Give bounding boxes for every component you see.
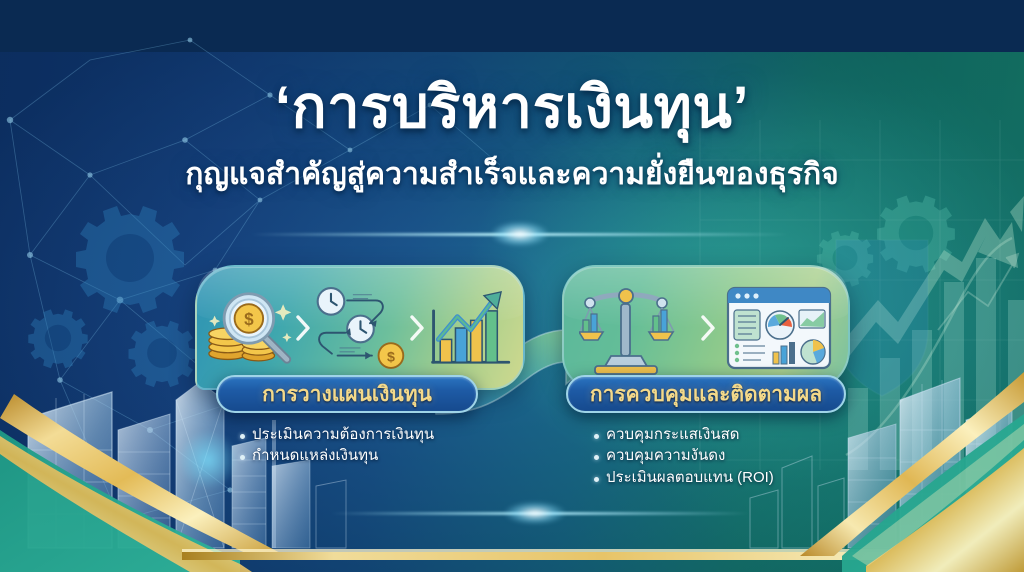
- page-title: ‘การบริหารเงินทุน’: [0, 78, 1024, 139]
- list-item: กำหนดแหล่งเงินทุน: [240, 445, 434, 466]
- list-item: ประเมินความต้องการเงินทุน: [240, 424, 434, 445]
- bullet-list-planning: ประเมินความต้องการเงินทุน กำหนดแหล่งเงิน…: [240, 424, 434, 467]
- step-label-pill-planning[interactable]: การวางแผนเงินทุน: [216, 375, 478, 413]
- step-label-planning: การวางแผนเงินทุน: [262, 378, 432, 411]
- list-item: ควบคุมความงันดง: [594, 445, 774, 466]
- step-label-control: การควบคุมและติดตามผล: [590, 378, 822, 411]
- headline-block: ‘การบริหารเงินทุน’ กุญแจสำคัญสู่ความสำเร…: [0, 78, 1024, 198]
- bullet-dot-icon: [594, 477, 599, 482]
- page-subtitle: กุญแจสำคัญสู่ความสำเร็จและความยั่งยืนของ…: [0, 151, 1024, 198]
- infographic-canvas: $ $: [0, 0, 1024, 572]
- bullet-text: ควบคุมความงันดง: [606, 445, 725, 466]
- bullet-dot-icon: [240, 455, 245, 460]
- list-item: ประเมินผลตอบแทน (ROI): [594, 467, 774, 488]
- bullet-text: ประเมินความต้องการเงินทุน: [252, 424, 434, 445]
- bullet-dot-icon: [240, 434, 245, 439]
- bullet-text: กำหนดแหล่งเงินทุน: [252, 445, 378, 466]
- bullet-text: ควบคุมกระแสเงินสด: [606, 424, 740, 445]
- bullet-dot-icon: [594, 434, 599, 439]
- bullet-text: ประเมินผลตอบแทน (ROI): [606, 467, 774, 488]
- list-item: ควบคุมกระแสเงินสด: [594, 424, 774, 445]
- step-label-pill-control[interactable]: การควบคุมและติดตามผล: [566, 375, 846, 413]
- bullet-dot-icon: [594, 455, 599, 460]
- bullet-list-control: ควบคุมกระแสเงินสด ควบคุมความงันดง ประเมิ…: [594, 424, 774, 488]
